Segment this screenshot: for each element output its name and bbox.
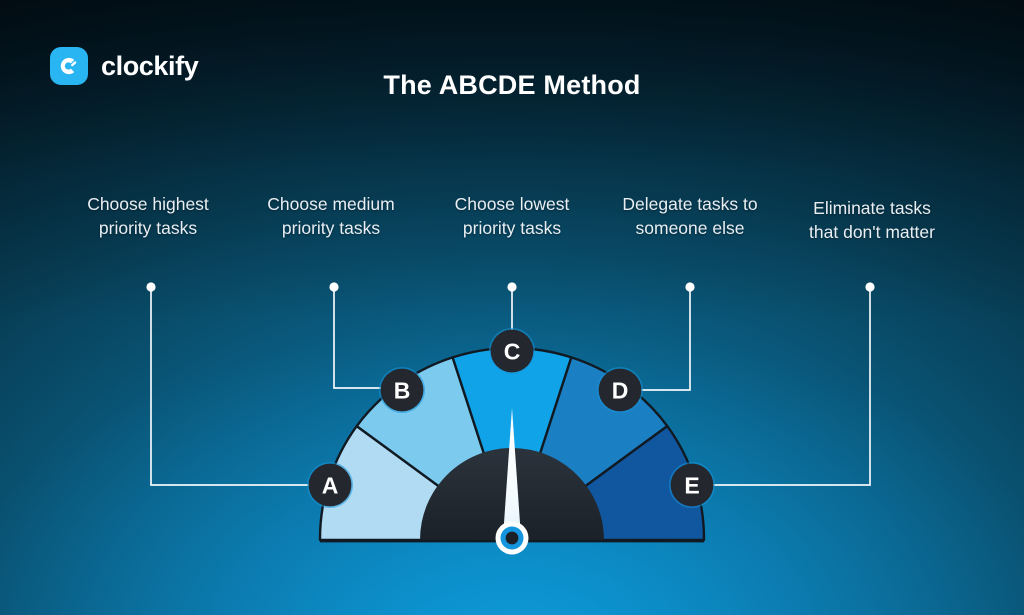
- connector-dot-e: [865, 282, 874, 291]
- badge-e-label: E: [684, 473, 699, 499]
- badge-a-label: A: [322, 473, 339, 499]
- badge-e[interactable]: E: [669, 462, 715, 508]
- badge-d[interactable]: D: [597, 367, 643, 413]
- infographic-canvas: clockify The ABCDE Method Choose highest…: [0, 0, 1024, 615]
- connector-dot-c: [507, 282, 516, 291]
- badge-b[interactable]: B: [379, 367, 425, 413]
- gauge-needle-hub: [496, 522, 529, 555]
- connector-dot-d: [685, 282, 694, 291]
- badge-c[interactable]: C: [489, 328, 535, 374]
- badge-b-label: B: [394, 378, 411, 404]
- connector-dot-a: [146, 282, 155, 291]
- connector-line-b: [334, 288, 381, 388]
- badge-c-label: C: [504, 339, 521, 365]
- connector-dots: [146, 282, 874, 291]
- connector-dot-b: [329, 282, 338, 291]
- connector-line-a: [151, 288, 309, 485]
- connector-line-d: [640, 288, 690, 390]
- badge-d-label: D: [612, 378, 629, 404]
- gauge-diagram: A B C D E: [0, 0, 1024, 615]
- badge-a[interactable]: A: [307, 462, 353, 508]
- connector-line-e: [712, 288, 870, 485]
